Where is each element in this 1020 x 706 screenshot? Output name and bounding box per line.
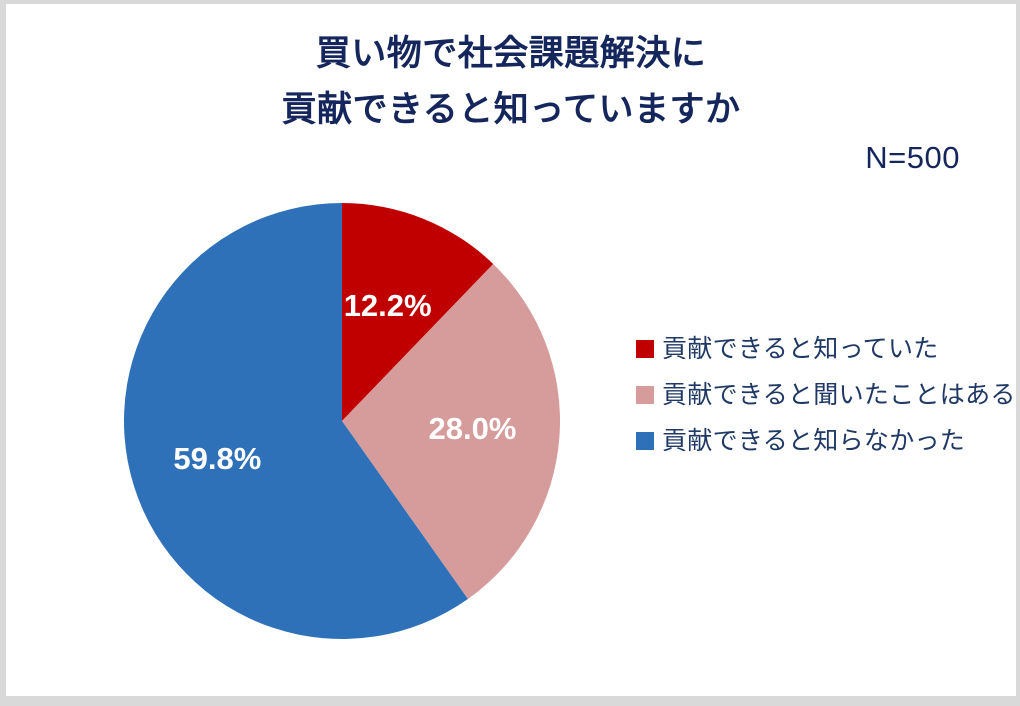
pie-chart: 12.2%28.0%59.8% — [122, 201, 562, 641]
chart-title-line-1: 買い物で社会課題解決に — [6, 26, 1016, 82]
chart-title-line-2: 貢献できると知っていますか — [6, 82, 1016, 138]
chart-frame: 買い物で社会課題解決に 貢献できると知っていますか N=500 12.2%28.… — [0, 0, 1020, 706]
pie-chart-svg: 12.2%28.0%59.8% — [122, 201, 562, 641]
legend-label-unknown: 貢献できると知らなかった — [662, 427, 965, 455]
sample-size-label: N=500 — [865, 138, 960, 178]
pie-slice-label: 28.0% — [428, 411, 516, 446]
chart-legend: 貢献できると知っていた 貢献できると聞いたことはある 貢献できると知らなかった — [636, 326, 996, 464]
pie-slice-label: 59.8% — [173, 441, 261, 476]
chart-canvas: 買い物で社会課題解決に 貢献できると知っていますか N=500 12.2%28.… — [6, 4, 1016, 696]
legend-label-heard: 貢献できると聞いたことはある — [662, 381, 1016, 409]
legend-item-known[interactable]: 貢献できると知っていた — [636, 326, 996, 372]
legend-item-heard[interactable]: 貢献できると聞いたことはある — [636, 372, 996, 418]
chart-title: 買い物で社会課題解決に 貢献できると知っていますか — [6, 26, 1016, 138]
legend-label-known: 貢献できると知っていた — [662, 335, 939, 363]
legend-item-unknown[interactable]: 貢献できると知らなかった — [636, 418, 996, 464]
legend-swatch-icon-unknown — [636, 432, 654, 450]
legend-swatch-icon-known — [636, 340, 654, 358]
pie-slice-label: 12.2% — [344, 288, 432, 323]
legend-swatch-icon-heard — [636, 386, 654, 404]
